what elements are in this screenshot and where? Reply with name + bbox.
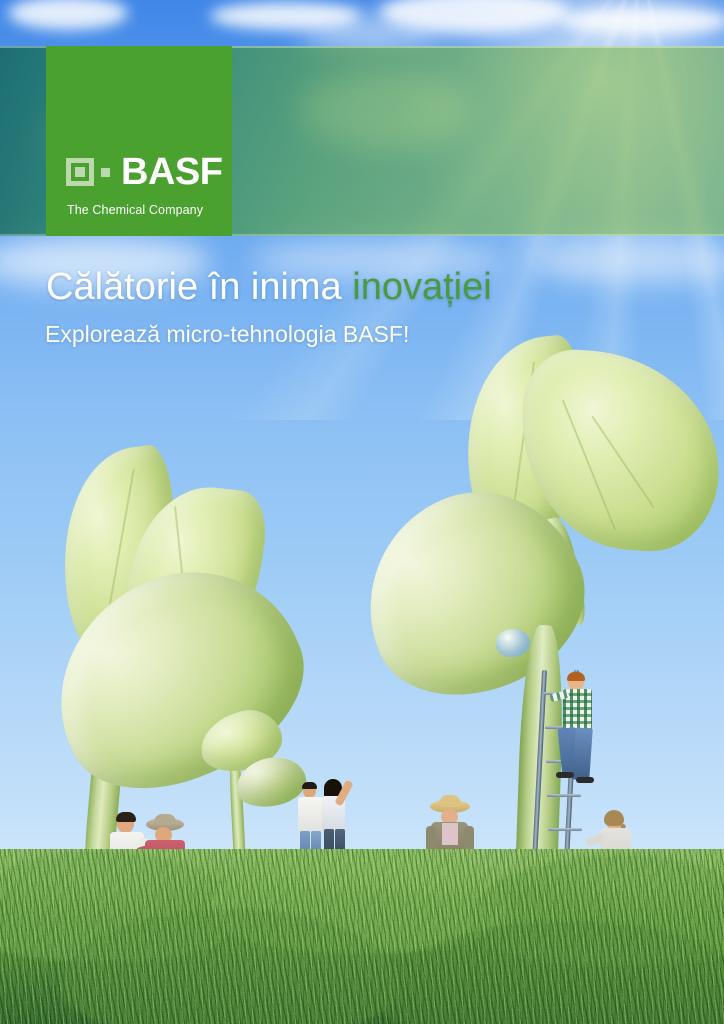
headline-part-main: Călătorie în inima bbox=[46, 266, 352, 308]
shoe-icon bbox=[556, 772, 574, 778]
basf-square-mark-icon: BASF bbox=[66, 153, 222, 191]
ladder-rung bbox=[548, 828, 582, 831]
hair-icon bbox=[302, 782, 317, 789]
hat-crown-icon bbox=[439, 795, 461, 807]
hair-icon bbox=[116, 812, 136, 822]
logo-small-square-icon bbox=[101, 168, 110, 177]
logo-inner-square-icon bbox=[75, 167, 85, 177]
shirt-collar-icon bbox=[442, 823, 458, 845]
moss-ground bbox=[0, 849, 724, 1024]
page-subtitle: Explorează micro-tehnologia BASF! bbox=[45, 321, 409, 348]
grass-highlight-texture bbox=[0, 849, 724, 1024]
basf-tagline: The Chemical Company bbox=[67, 203, 203, 217]
basf-wordmark: BASF bbox=[121, 153, 222, 191]
hair-icon bbox=[567, 672, 585, 681]
hat-crown-icon bbox=[154, 814, 176, 825]
person-man-plaid-shirt-on-ladder bbox=[552, 672, 612, 802]
logo-outer-square-icon bbox=[66, 158, 94, 186]
cloud-icon bbox=[560, 6, 724, 36]
poster-root: BASF The Chemical Company Călătorie în i… bbox=[0, 0, 724, 1024]
basf-logo-box[interactable]: BASF The Chemical Company bbox=[46, 46, 232, 236]
page-title: Călătorie în inima inovației bbox=[46, 268, 492, 308]
shoe-icon bbox=[576, 777, 594, 783]
headline-part-accent: inovației bbox=[352, 266, 491, 308]
legs-jeans bbox=[572, 727, 593, 780]
